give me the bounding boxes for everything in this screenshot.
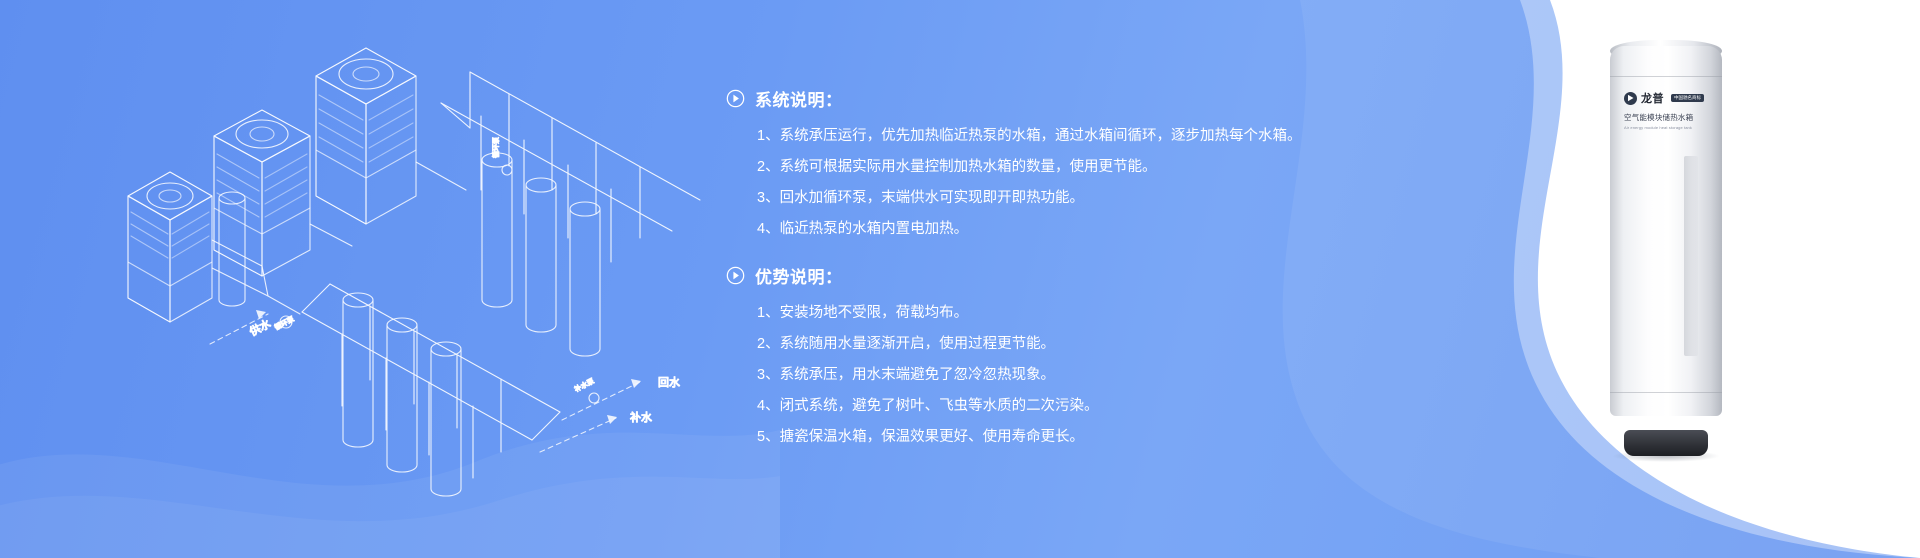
brand-logo-icon bbox=[1624, 92, 1637, 105]
list-item: 1、系统承压运行，优先加热临近热泵的水箱，通过水箱间循环，逐步加热每个水箱。 bbox=[726, 121, 1326, 152]
list-item: 5、搪瓷保温水箱，保温效果更好、使用寿命更长。 bbox=[726, 422, 1326, 453]
tank-base bbox=[1624, 430, 1708, 456]
section-title: 优势说明： bbox=[755, 263, 843, 288]
tank-side-panel bbox=[1684, 156, 1698, 356]
section-header: 优势说明： bbox=[726, 263, 1326, 288]
heat-pump-unit-1 bbox=[128, 172, 212, 322]
section-system-description: 系统说明： 1、系统承压运行，优先加热临近热泵的水箱，通过水箱间循环，逐步加热每… bbox=[726, 86, 1326, 245]
section-header: 系统说明： bbox=[726, 86, 1326, 111]
list-item: 1、安装场地不受限，荷载均布。 bbox=[726, 298, 1326, 329]
play-circle-icon bbox=[726, 266, 745, 285]
section-advantage-description: 优势说明： 1、安装场地不受限，荷载均布。 2、系统随用水量逐渐开启，使用过程更… bbox=[726, 263, 1326, 453]
diagram-label-supply: 供水 bbox=[247, 316, 273, 338]
list-item: 3、系统承压，用水末端避免了忽冷忽热现象。 bbox=[726, 360, 1326, 391]
list-item: 2、系统随用水量逐渐开启，使用过程更节能。 bbox=[726, 329, 1326, 360]
tank-seam-lower bbox=[1610, 392, 1722, 393]
list-item: 4、临近热泵的水箱内置电加热。 bbox=[726, 214, 1326, 245]
flow-arrows bbox=[210, 314, 640, 452]
tank-brand-label: 龙普 中国驰名商标 空气能模块储热水箱 Air energy module he… bbox=[1624, 90, 1716, 130]
diagram-label-return: 回水 bbox=[658, 376, 680, 389]
product-name-cn: 空气能模块储热水箱 bbox=[1624, 112, 1716, 123]
diagram-label-pump-3: 补水泵 bbox=[573, 376, 596, 394]
list-item: 3、回水加循环泵，末端供水可实现即开即热功能。 bbox=[726, 183, 1326, 214]
section-item-list: 1、安装场地不受限，荷载均布。 2、系统随用水量逐渐开启，使用过程更节能。 3、… bbox=[726, 298, 1326, 453]
play-circle-icon bbox=[726, 89, 745, 108]
connection-pipes bbox=[212, 162, 466, 314]
heat-pump-unit-3 bbox=[316, 48, 416, 224]
list-item: 4、闭式系统，避免了树叶、飞虫等水质的二次污染。 bbox=[726, 391, 1326, 422]
diagram-label-pump-2: 循环泵 bbox=[491, 137, 500, 158]
promo-banner: 供水 回水 补水 循环泵 循环泵 补水泵 系统说明： 1、系统承压运行，优先加热… bbox=[0, 0, 1920, 558]
section-item-list: 1、系统承压运行，优先加热临近热泵的水箱，通过水箱间循环，逐步加热每个水箱。 2… bbox=[726, 121, 1326, 245]
diagram-label-pump-1: 循环泵 bbox=[273, 314, 296, 332]
product-name-en: Air energy module heat storage tank bbox=[1624, 125, 1716, 130]
heat-pump-unit-2 bbox=[214, 110, 310, 276]
brand-name: 龙普 bbox=[1641, 90, 1664, 106]
product-showcase: 龙普 中国驰名商标 空气能模块储热水箱 Air energy module he… bbox=[1400, 0, 1920, 558]
list-item: 2、系统可根据实际用水量控制加热水箱的数量，使用更节能。 bbox=[726, 152, 1326, 183]
pump-symbols bbox=[280, 165, 599, 403]
description-panel: 系统说明： 1、系统承压运行，优先加热临近热泵的水箱，通过水箱间循环，逐步加热每… bbox=[726, 86, 1326, 471]
tank-seam-upper bbox=[1610, 76, 1722, 77]
system-schematic-diagram: 供水 回水 补水 循环泵 循环泵 补水泵 bbox=[0, 0, 730, 558]
brand-row: 龙普 中国驰名商标 bbox=[1624, 90, 1716, 106]
water-tank-product-image: 龙普 中国驰名商标 空气能模块储热水箱 Air energy module he… bbox=[1600, 36, 1732, 456]
diagram-label-makeup: 补水 bbox=[630, 411, 652, 424]
section-title: 系统说明： bbox=[755, 86, 843, 111]
brand-badge: 中国驰名商标 bbox=[1671, 94, 1704, 102]
